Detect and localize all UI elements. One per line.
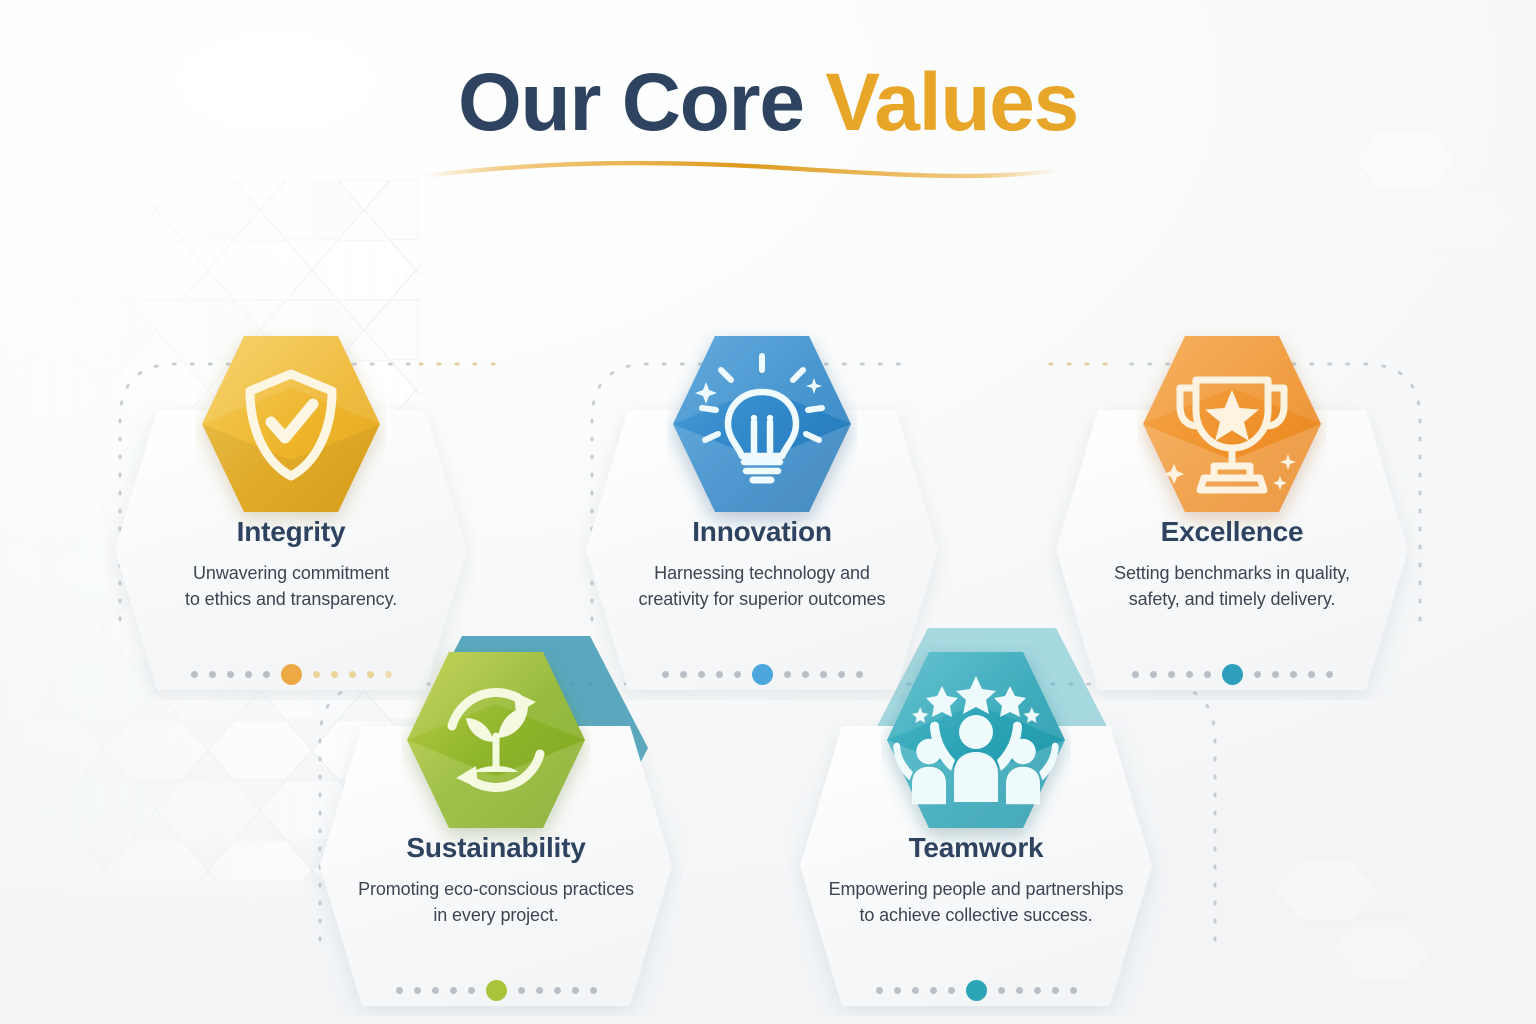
dot: [1204, 671, 1211, 678]
desc-line-1: Harnessing technology and: [654, 563, 870, 583]
dot: [1168, 671, 1175, 678]
dot: [1016, 987, 1023, 994]
dot: [716, 671, 723, 678]
value-icon-badge-sustainability: [401, 644, 591, 844]
card-dot-row-teamwork: [790, 978, 1162, 1002]
dot: [468, 987, 475, 994]
dot: [930, 987, 937, 994]
card-text-body: Teamwork Empowering people and partnersh…: [790, 834, 1162, 928]
card-text-body: Sustainability Promoting eco-conscious p…: [310, 834, 682, 928]
card-text-body: Integrity Unwavering commitment to ethic…: [105, 518, 477, 612]
dot: [432, 987, 439, 994]
card-title-innovation: Innovation: [576, 518, 948, 546]
card-text-body: Innovation Harnessing technology and cre…: [576, 518, 948, 612]
card-text-body: Excellence Setting benchmarks in quality…: [1046, 518, 1418, 612]
dot: [1186, 671, 1193, 678]
dot: [209, 671, 216, 678]
desc-line-1: Unwavering commitment: [193, 563, 389, 583]
desc-line-2: in every project.: [433, 905, 558, 925]
card-description-innovation: Harnessing technology and creativity for…: [576, 560, 948, 612]
card-title-teamwork: Teamwork: [790, 834, 1162, 862]
dot: [414, 987, 421, 994]
card-title-integrity: Integrity: [105, 518, 477, 546]
dot: [396, 987, 403, 994]
desc-line-1: Promoting eco-conscious practices: [358, 879, 634, 899]
dot: [948, 987, 955, 994]
dot-active-teamwork: [966, 980, 987, 1001]
value-icon-badge-integrity: [196, 328, 386, 528]
dot: [1052, 987, 1059, 994]
dot: [1308, 671, 1315, 678]
dot-active-innovation: [752, 664, 773, 685]
card-description-excellence: Setting benchmarks in quality, safety, a…: [1046, 560, 1418, 612]
dot: [1070, 987, 1077, 994]
value-card-teamwork[interactable]: Teamwork Empowering people and partnersh…: [790, 644, 1162, 1016]
dot: [1326, 671, 1333, 678]
dot: [245, 671, 252, 678]
values-stage: Integrity Unwavering commitment to ethic…: [0, 0, 1536, 1024]
desc-line-1: Empowering people and partnerships: [829, 879, 1124, 899]
dot: [450, 987, 457, 994]
dot: [1272, 671, 1279, 678]
dot: [912, 987, 919, 994]
dot-active-excellence: [1222, 664, 1243, 685]
value-icon-badge-excellence: [1137, 328, 1327, 528]
card-title-sustainability: Sustainability: [310, 834, 682, 862]
dot: [998, 987, 1005, 994]
dot: [572, 987, 579, 994]
desc-line-2: to ethics and transparency.: [185, 589, 397, 609]
desc-line-2: safety, and timely delivery.: [1129, 589, 1336, 609]
dot-active-integrity: [281, 664, 302, 685]
value-card-sustainability[interactable]: Sustainability Promoting eco-conscious p…: [310, 644, 682, 1016]
dot: [227, 671, 234, 678]
card-description-sustainability: Promoting eco-conscious practices in eve…: [310, 876, 682, 928]
dot: [734, 671, 741, 678]
dot: [518, 987, 525, 994]
dot: [263, 671, 270, 678]
dot-active-sustainability: [486, 980, 507, 1001]
card-title-excellence: Excellence: [1046, 518, 1418, 546]
card-description-teamwork: Empowering people and partnerships to ac…: [790, 876, 1162, 928]
dot: [1034, 987, 1041, 994]
dot: [554, 987, 561, 994]
dot: [894, 987, 901, 994]
card-description-integrity: Unwavering commitment to ethics and tran…: [105, 560, 477, 612]
desc-line-1: Setting benchmarks in quality,: [1114, 563, 1350, 583]
dot: [698, 671, 705, 678]
value-icon-badge-innovation: [667, 328, 857, 528]
card-dot-row-sustainability: [310, 978, 682, 1002]
value-icon-badge-teamwork: [881, 644, 1071, 844]
dot: [1254, 671, 1261, 678]
dot: [191, 671, 198, 678]
desc-line-2: creativity for superior outcomes: [639, 589, 886, 609]
dot: [590, 987, 597, 994]
dot: [536, 987, 543, 994]
desc-line-2: to achieve collective success.: [859, 905, 1092, 925]
dot: [1290, 671, 1297, 678]
dot: [876, 987, 883, 994]
